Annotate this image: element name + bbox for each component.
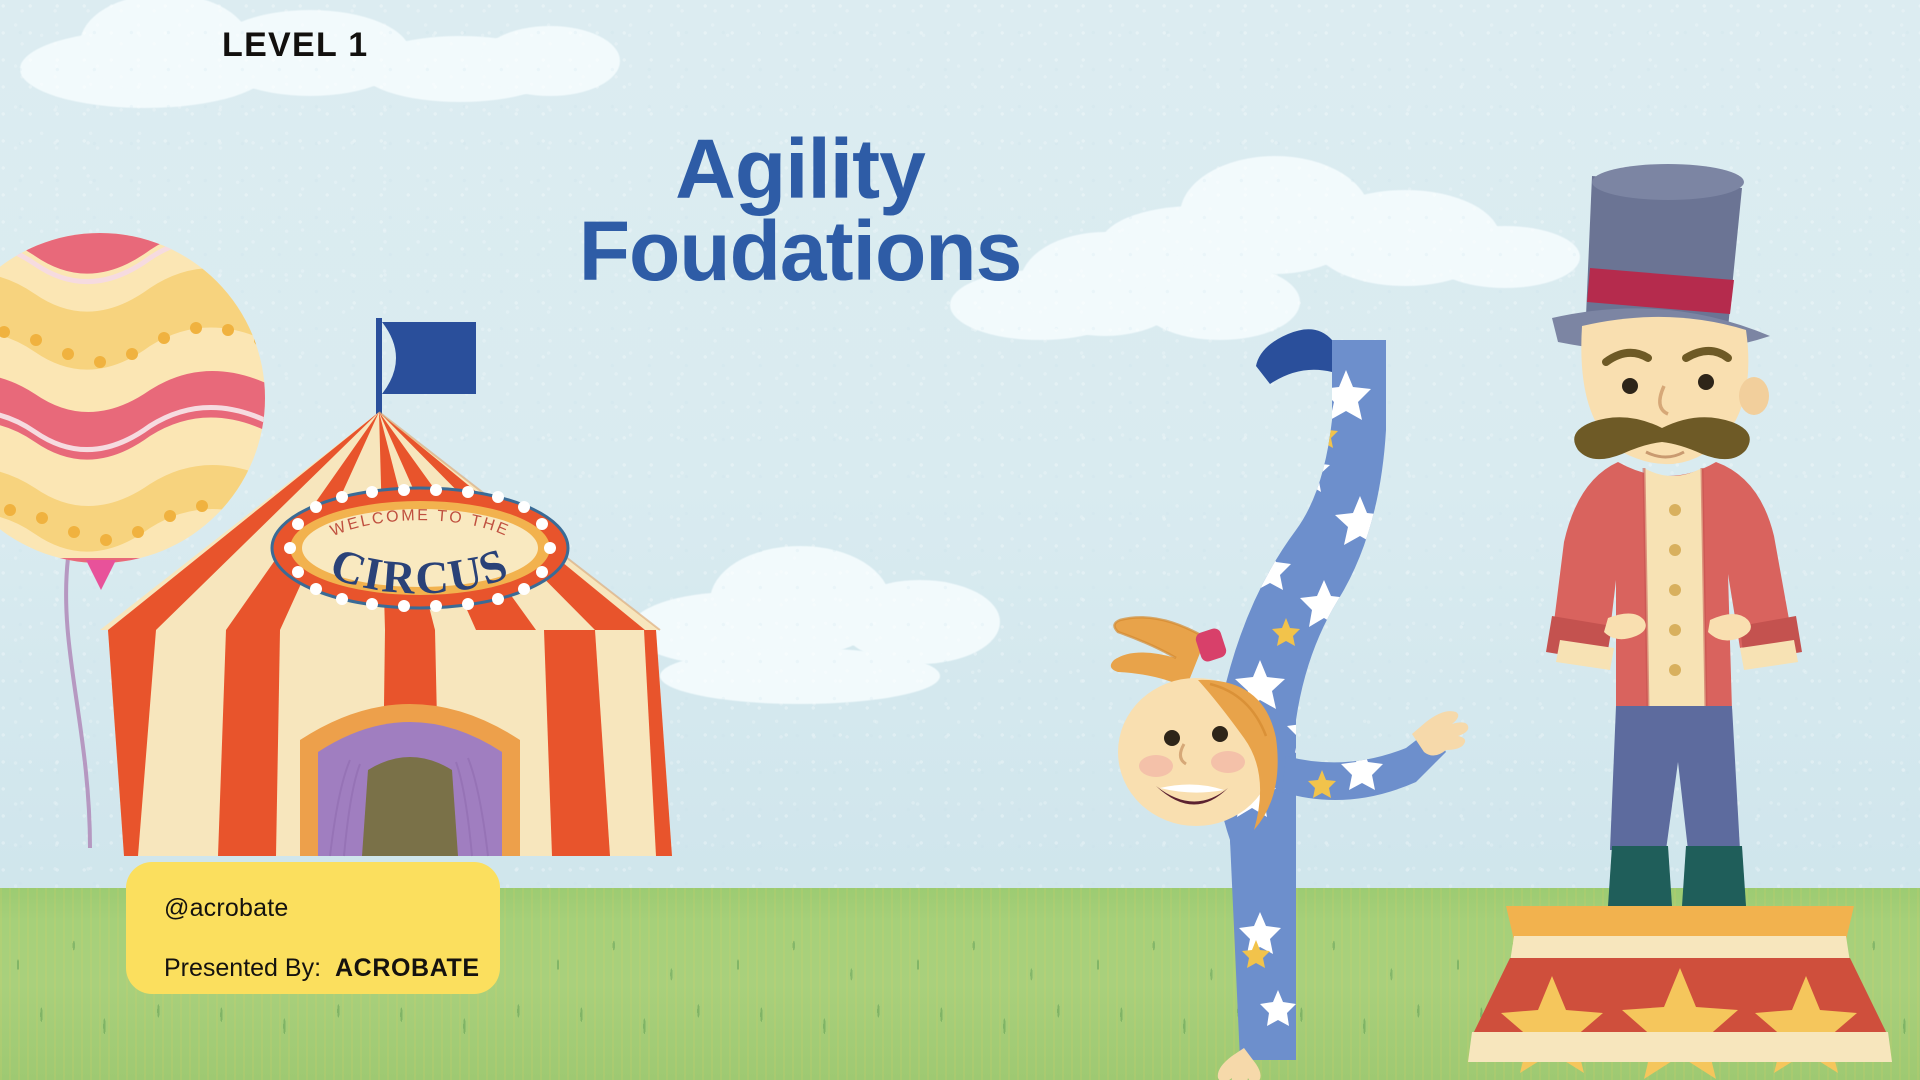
presenter-name: ACROBATE: [335, 954, 480, 982]
presented-by-label: Presented By:: [164, 954, 321, 982]
page-title: Agility Foudations: [470, 128, 1130, 293]
title-line-1: Agility: [470, 128, 1130, 210]
presenter-card: @acrobate Presented By:ACROBATE: [126, 862, 500, 994]
ringmaster-illustration: [1440, 150, 1920, 1080]
presented-by-line: Presented By:ACROBATE: [164, 954, 480, 983]
social-handle: @acrobate: [164, 894, 288, 923]
presentation-slide: WELCOME TO THE CIRCUS: [0, 0, 1920, 1080]
circus-tent-illustration: WELCOME TO THE CIRCUS: [100, 300, 720, 900]
title-line-2: Foudations: [470, 210, 1130, 292]
level-label: LEVEL 1: [222, 26, 368, 65]
